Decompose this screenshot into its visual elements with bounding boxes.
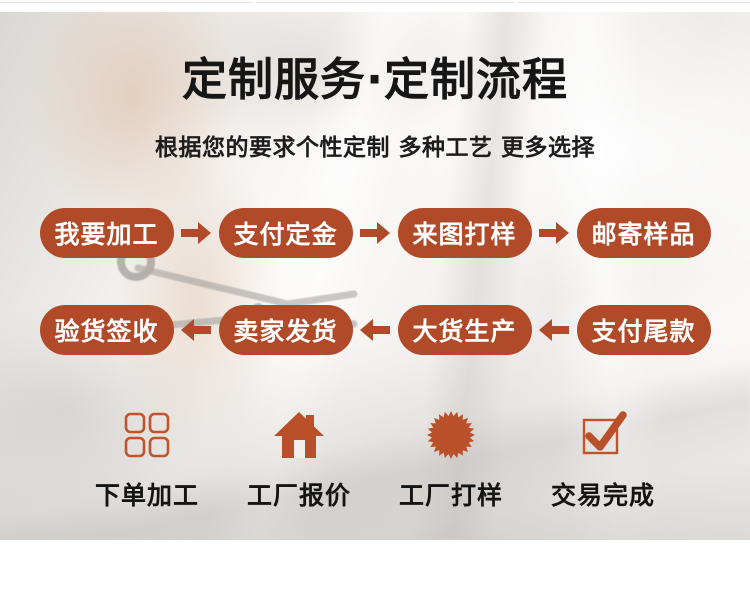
arrow-right-icon bbox=[353, 208, 398, 258]
feature-item-quote[interactable]: 工厂报价 bbox=[223, 404, 375, 512]
page-title-text: 定制服务·定制流程 bbox=[182, 53, 568, 106]
feature-icon-strip: 下单加工 工厂报价 bbox=[0, 404, 750, 512]
feature-label: 工厂报价 bbox=[247, 476, 351, 512]
page-subtitle: 根据您的要求个性定制 多种工艺 更多选择 bbox=[0, 128, 750, 162]
feature-item-prototype[interactable]: 工厂打样 bbox=[375, 404, 527, 512]
arrow-left-icon bbox=[353, 305, 398, 355]
headline-container: 定制服务·定制流程 bbox=[0, 57, 750, 102]
page-whitespace bbox=[0, 540, 750, 616]
arrow-right-icon bbox=[532, 208, 577, 258]
flow-step-bulk-produce[interactable]: 大货生产 bbox=[398, 305, 532, 355]
feature-label: 工厂打样 bbox=[399, 476, 503, 512]
top-hairline-3 bbox=[518, 2, 750, 3]
flow-step-seller-ship[interactable]: 卖家发货 bbox=[219, 305, 353, 355]
top-hairline-1 bbox=[0, 2, 252, 3]
flow-step-mail-sample[interactable]: 邮寄样品 bbox=[577, 208, 711, 258]
process-flow-row-forward: 我要加工 支付定金 来图打样 邮寄样品 bbox=[0, 208, 750, 258]
feature-item-complete[interactable]: 交易完成 bbox=[527, 404, 679, 512]
flow-step-final-payment[interactable]: 支付尾款 bbox=[577, 305, 711, 355]
factory-house-icon bbox=[273, 404, 325, 466]
flow-step-order[interactable]: 我要加工 bbox=[40, 208, 174, 258]
feature-label: 交易完成 bbox=[551, 476, 655, 512]
feature-item-order[interactable]: 下单加工 bbox=[71, 404, 223, 512]
process-flow-row-reverse: 验货签收 卖家发货 大货生产 支付尾款 bbox=[0, 305, 750, 355]
flow-step-deposit[interactable]: 支付定金 bbox=[219, 208, 353, 258]
sunburst-badge-icon bbox=[425, 404, 477, 466]
top-hairline-2 bbox=[256, 2, 514, 3]
arrow-right-icon bbox=[174, 208, 219, 258]
feature-label: 下单加工 bbox=[95, 476, 199, 512]
flow-step-inspect-sign[interactable]: 验货签收 bbox=[40, 305, 174, 355]
arrow-left-icon bbox=[174, 305, 219, 355]
arrow-left-icon bbox=[532, 305, 577, 355]
grid-four-squares-icon bbox=[123, 404, 171, 466]
custom-service-flow-banner: 定制服务·定制流程 根据您的要求个性定制 多种工艺 更多选择 我要加工 支付定金… bbox=[0, 0, 750, 540]
flow-step-sample-draw[interactable]: 来图打样 bbox=[398, 208, 532, 258]
checkbox-check-icon bbox=[577, 404, 629, 466]
top-white-strip bbox=[0, 0, 750, 12]
page-title: 定制服务·定制流程 bbox=[182, 57, 568, 102]
